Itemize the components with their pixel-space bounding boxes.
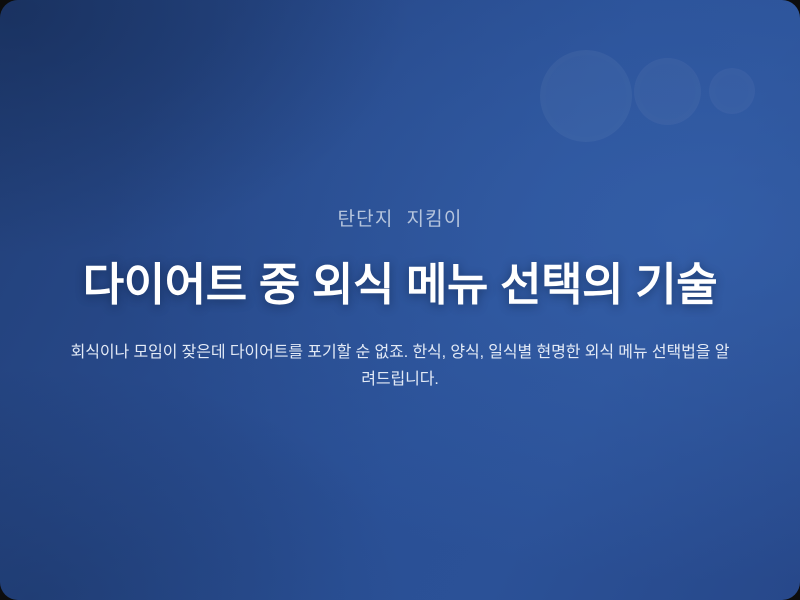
slide-content: 탄단지 지킴이 다이어트 중 외식 메뉴 선택의 기술 회식이나 모임이 잦은데… [0,0,800,600]
title-slide: 탄단지 지킴이 다이어트 중 외식 메뉴 선택의 기술 회식이나 모임이 잦은데… [0,0,800,600]
slide-subtitle: 회식이나 모임이 잦은데 다이어트를 포기할 순 없죠. 한식, 양식, 일식별… [70,339,730,393]
slide-title: 다이어트 중 외식 메뉴 선택의 기술 [83,259,718,311]
slide-eyebrow: 탄단지 지킴이 [337,207,462,233]
